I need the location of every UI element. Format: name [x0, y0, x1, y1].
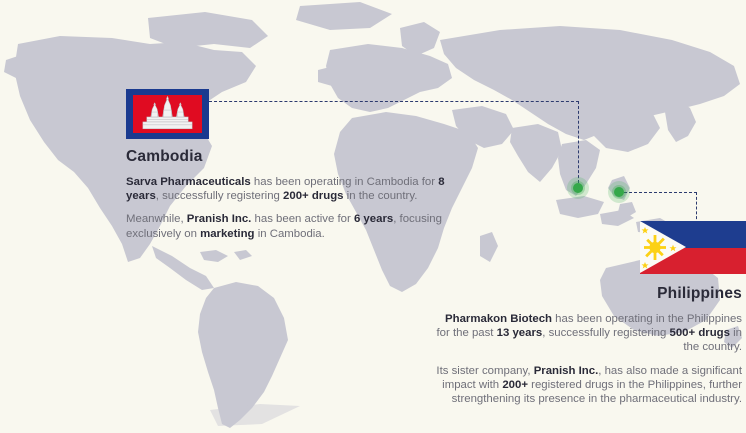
cambodia-info-block: Cambodia Sarva Pharmaceuticals has been …: [126, 148, 466, 241]
angkor-wat-icon: [133, 95, 202, 133]
cambodia-p1-text-c: in the country.: [344, 190, 418, 202]
marker-dot: [614, 187, 624, 197]
cambodia-flag[interactable]: [126, 89, 209, 139]
marker-dot: [573, 183, 583, 193]
cambodia-p2-text-d: in Cambodia.: [255, 228, 325, 240]
philippines-marker[interactable]: [608, 181, 630, 203]
philippines-paragraph-1: Pharmakon Biotech has been operating in …: [436, 312, 742, 355]
cambodia-p1-text-a: has been operating in Cambodia for: [251, 176, 438, 188]
cambodia-paragraph-1: Sarva Pharmaceuticals has been operating…: [126, 175, 466, 203]
cambodia-p1-drugs: 200+ drugs: [283, 190, 343, 202]
cambodia-connector-vertical: [578, 101, 579, 188]
philippines-paragraph-2: Its sister company, Pranish Inc., has al…: [436, 364, 742, 407]
philippines-info-block: Philippines Pharmakon Biotech has been o…: [436, 285, 742, 406]
philippines-p2-text-a: Its sister company,: [436, 365, 533, 377]
philippines-p1-drugs: 500+ drugs: [670, 327, 730, 339]
philippines-p1-years: 13 years: [497, 327, 543, 339]
cambodia-p2-years: 6 years: [354, 213, 393, 225]
philippines-connector-vertical: [696, 192, 697, 224]
cambodia-paragraph-2: Meanwhile, Pranish Inc. has been active …: [126, 212, 466, 240]
cambodia-p2-text-b: has been active for: [251, 213, 354, 225]
philippines-p2-drugs: 200+: [502, 379, 528, 391]
cambodia-flag-field: [133, 95, 202, 133]
cambodia-heading: Cambodia: [126, 148, 466, 166]
cambodia-p2-text-a: Meanwhile,: [126, 213, 187, 225]
philippines-p2-company: Pranish Inc.: [534, 365, 599, 377]
cambodia-p1-company: Sarva Pharmaceuticals: [126, 176, 251, 188]
cambodia-marker[interactable]: [567, 177, 589, 199]
philippines-sun-and-stars-icon: [640, 221, 686, 274]
cambodia-p2-company: Pranish Inc.: [187, 213, 252, 225]
philippines-p1-company: Pharmakon Biotech: [445, 313, 552, 325]
cambodia-connector-horizontal: [209, 101, 579, 102]
cambodia-p2-focus: marketing: [200, 228, 254, 240]
philippines-p1-text-b: , successfully registering: [542, 327, 669, 339]
infographic-canvas: Cambodia Sarva Pharmaceuticals has been …: [0, 0, 746, 433]
philippines-connector-horizontal: [619, 192, 697, 193]
philippines-flag[interactable]: [640, 221, 746, 274]
philippines-heading: Philippines: [436, 285, 742, 303]
cambodia-p1-text-b: , successfully registering: [156, 190, 283, 202]
